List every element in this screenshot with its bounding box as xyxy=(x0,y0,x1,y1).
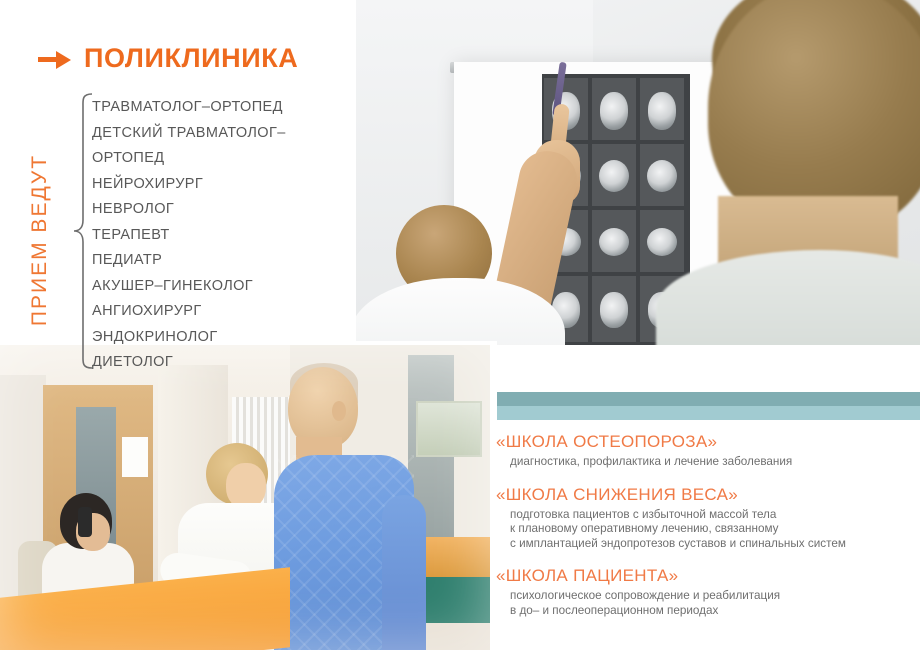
xray-film xyxy=(640,78,684,140)
scan-slice xyxy=(647,228,677,256)
teal-accent-band xyxy=(488,392,920,406)
vertical-label-priem-vedut: ПРИЕМ ВЕДУТ xyxy=(28,140,52,340)
school-title: «ШКОЛА ПАЦИЕНТА» xyxy=(496,566,908,586)
arrow-right-icon xyxy=(38,46,72,72)
xray-film xyxy=(640,144,684,206)
list-item: ДИЕТОЛОГ xyxy=(92,350,332,376)
list-item: ТРАВМАТОЛОГ–ОРТОПЕД xyxy=(92,95,332,121)
xray-film xyxy=(592,144,636,206)
school-description: психологическое сопровождение и реабилит… xyxy=(510,589,908,618)
scan-slice xyxy=(600,292,628,328)
list-item: ПЕДИАТР xyxy=(92,248,332,274)
teal-accent-band-light xyxy=(488,406,920,420)
scan-slice xyxy=(599,160,629,192)
page-title: ПОЛИКЛИНИКА xyxy=(38,43,298,74)
schools-section: «ШКОЛА ОСТЕОПОРОЗА» диагностика, профила… xyxy=(496,432,908,634)
list-item: ДЕТСКИЙ ТРАВМАТОЛОГ– ОРТОПЕД xyxy=(92,121,332,172)
xray-film xyxy=(592,210,636,272)
xray-film xyxy=(640,210,684,272)
school-block: «ШКОЛА ПАЦИЕНТА» психологическое сопрово… xyxy=(496,566,908,618)
poster-page: ПОЛИКЛИНИКА ПРИЕМ ВЕДУТ ТРАВМАТОЛОГ–ОРТО… xyxy=(0,0,920,650)
list-item: ЭНДОКРИНОЛОГ xyxy=(92,325,332,351)
school-title: «ШКОЛА ОСТЕОПОРОЗА» xyxy=(496,432,908,452)
school-description: подготовка пациентов с избыточной массой… xyxy=(510,508,908,552)
specialist-list: ТРАВМАТОЛОГ–ОРТОПЕД ДЕТСКИЙ ТРАВМАТОЛОГ–… xyxy=(92,95,332,376)
list-item: АНГИОХИРУРГ xyxy=(92,299,332,325)
list-item: АКУШЕР–ГИНЕКОЛОГ xyxy=(92,274,332,300)
list-item: НЕВРОЛОГ xyxy=(92,197,332,223)
scan-slice xyxy=(599,228,629,256)
school-block: «ШКОЛА ОСТЕОПОРОЗА» диагностика, профила… xyxy=(496,432,908,470)
xray-film xyxy=(592,78,636,140)
curly-brace-icon xyxy=(72,92,94,370)
school-description: диагностика, профилактика и лечение забо… xyxy=(510,455,908,470)
scan-slice xyxy=(648,92,676,130)
radiology-lightbox-photo xyxy=(356,0,920,345)
scan-slice xyxy=(600,92,628,130)
list-item: ТЕРАПЕВТ xyxy=(92,223,332,249)
title-text: ПОЛИКЛИНИКА xyxy=(84,43,298,74)
school-title: «ШКОЛА СНИЖЕНИЯ ВЕСА» xyxy=(496,485,908,505)
xray-film xyxy=(592,276,636,342)
scan-slice xyxy=(647,160,677,192)
list-item: НЕЙРОХИРУРГ xyxy=(92,172,332,198)
photo-light-bloom xyxy=(0,345,490,650)
school-block: «ШКОЛА СНИЖЕНИЯ ВЕСА» подготовка пациент… xyxy=(496,485,908,552)
clinic-reception-photo xyxy=(0,345,490,650)
